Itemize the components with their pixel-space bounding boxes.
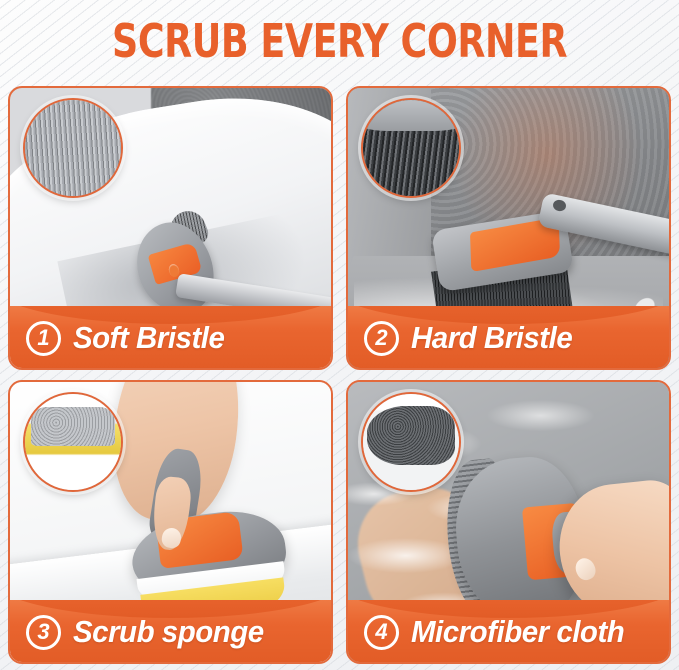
- panel-label-text: Soft Bristle: [73, 320, 224, 356]
- microfiber-closeup-image: [363, 394, 459, 490]
- panel-label-band: 4 Microfiber cloth: [346, 600, 671, 664]
- feature-panel-grid: 1 Soft Bristle 2 Hard Bristl: [8, 86, 671, 664]
- panel-label-text: Microfiber cloth: [411, 614, 624, 650]
- panel-label-band: 2 Hard Bristle: [346, 306, 671, 370]
- panel-label-text: Hard Bristle: [411, 320, 572, 356]
- feature-panel-scrub-sponge[interactable]: 3 Scrub sponge: [8, 380, 333, 664]
- panel-label-band: 1 Soft Bristle: [8, 306, 333, 370]
- closeup-inset-circle: [361, 98, 461, 198]
- soft-bristle-closeup-image: [25, 100, 121, 196]
- panel-number-badge: 3: [26, 615, 61, 650]
- feature-panel-hard-bristle[interactable]: 2 Hard Bristle: [346, 86, 671, 370]
- page-title-bar: SCRUB EVERY CORNER: [0, 0, 679, 82]
- feature-panel-microfiber-cloth[interactable]: 4 Microfiber cloth: [346, 380, 671, 664]
- feature-panel-soft-bristle[interactable]: 1 Soft Bristle: [8, 86, 333, 370]
- hard-bristle-closeup-image: [363, 100, 459, 196]
- closeup-inset-circle: [23, 392, 123, 492]
- closeup-inset-circle: [23, 98, 123, 198]
- panel-label-text: Scrub sponge: [73, 614, 264, 650]
- closeup-inset-circle: [361, 392, 461, 492]
- sponge-closeup-image: [25, 394, 121, 490]
- product-feature-infographic: SCRUB EVERY CORNER 1 Soft Bristle: [0, 0, 679, 670]
- panel-label-band: 3 Scrub sponge: [8, 600, 333, 664]
- panel-number-badge: 1: [26, 321, 61, 356]
- panel-number-badge: 4: [364, 615, 399, 650]
- panel-number-badge: 2: [364, 321, 399, 356]
- page-title: SCRUB EVERY CORNER: [112, 18, 567, 64]
